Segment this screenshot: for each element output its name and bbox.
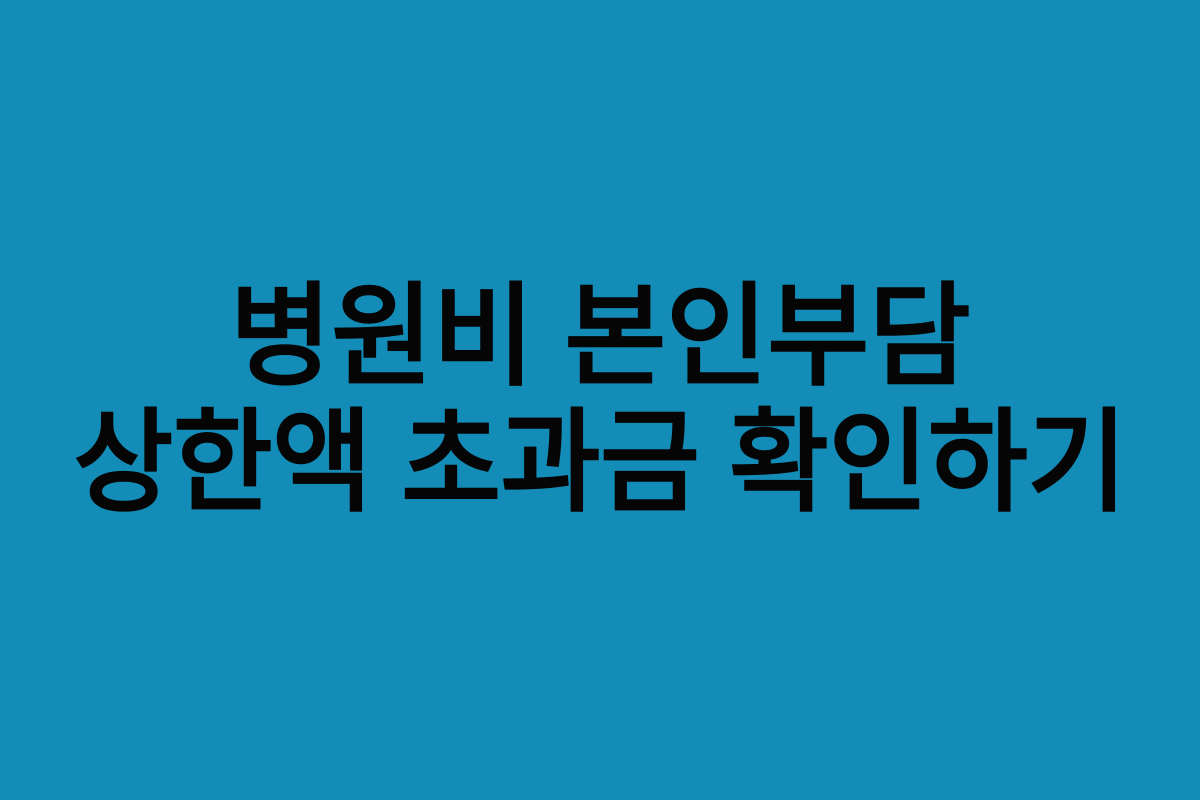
title-line-1: 병원비 본인부담 [6, 281, 1194, 393]
thumbnail-card: 병원비 본인부담 상한액 초과금 확인하기 [0, 0, 1200, 800]
title-block: 병원비 본인부담 상한액 초과금 확인하기 [0, 281, 1200, 519]
title-line-2: 상한액 초과금 확인하기 [18, 407, 1182, 519]
